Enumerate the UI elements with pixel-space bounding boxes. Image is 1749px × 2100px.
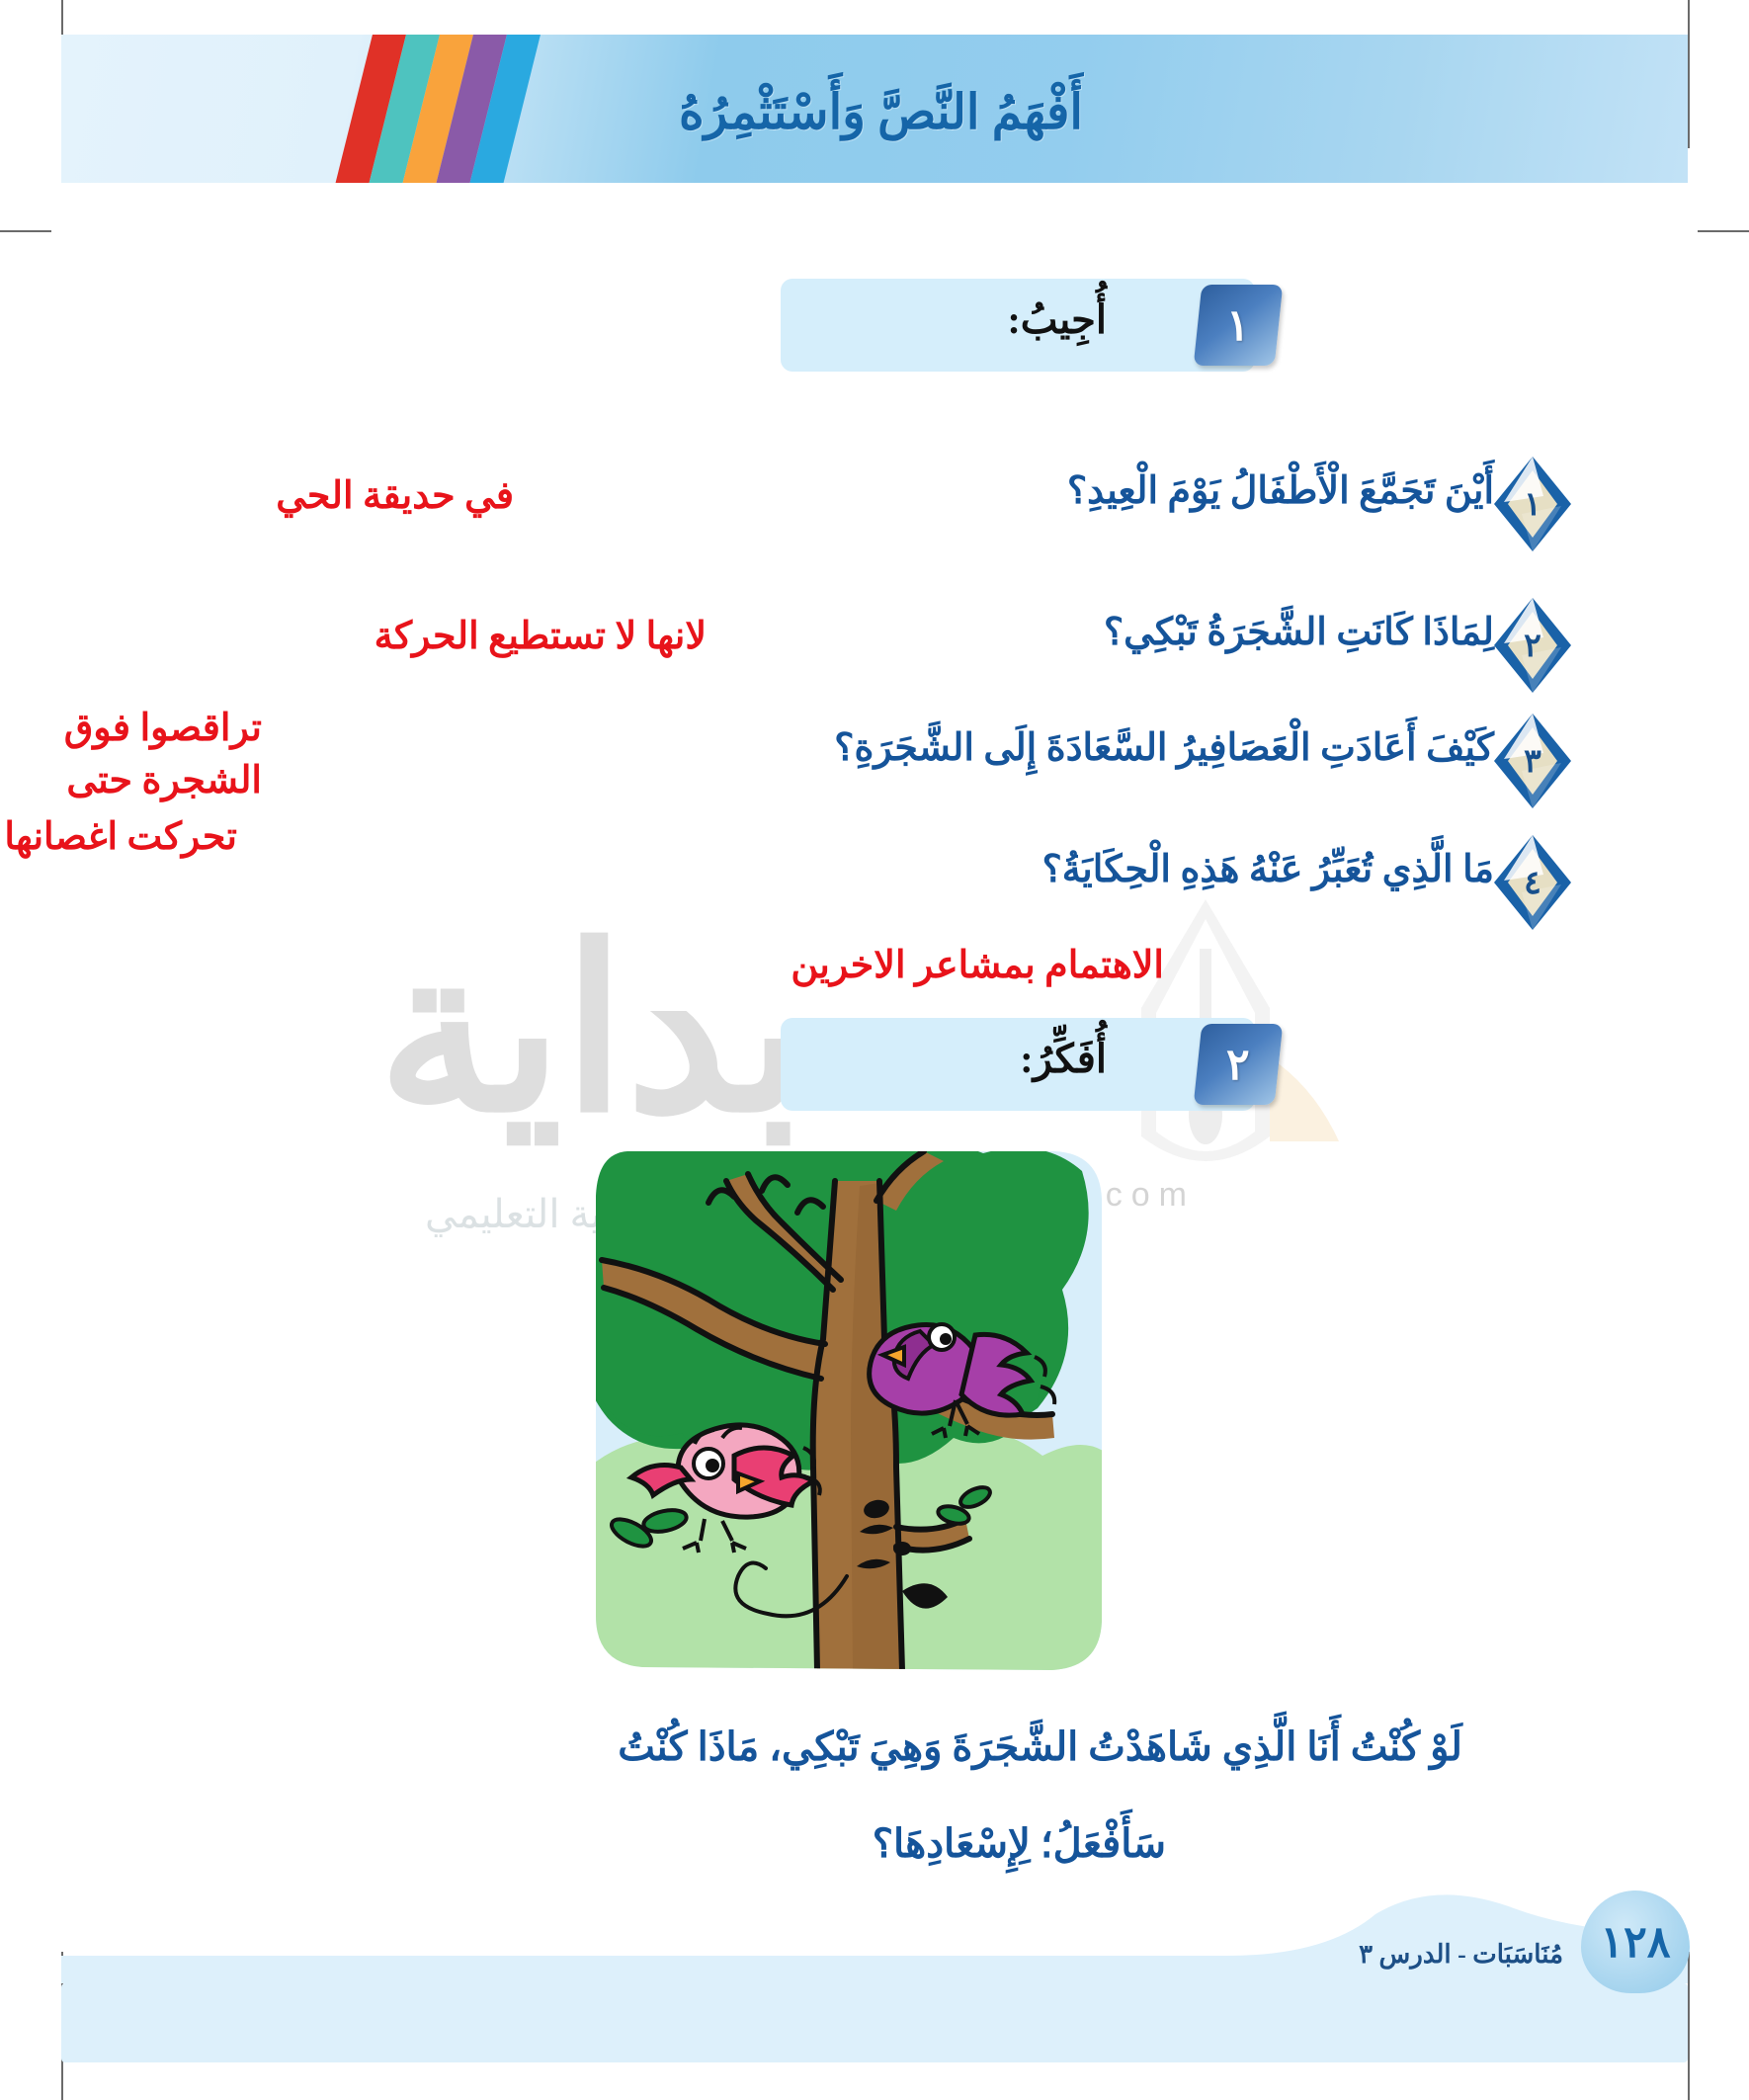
crop-mark-top-right	[1688, 0, 1690, 148]
section-label-answer: أُجِيبُ:	[1007, 296, 1107, 343]
crop-mark-right	[1698, 230, 1749, 232]
answer-text-3-line2: الشجرة حتى	[66, 759, 262, 803]
textbook-page: أَفْهَمُ النَّصَّ وَأَسْتَثْمِرُهُ بداية…	[0, 0, 1749, 2100]
think-prompt-line-1: لَوْ كُنْتُ أَنَا الَّذِي شَاهَدْتُ الشَ…	[618, 1720, 1462, 1775]
footer-band	[61, 1983, 1688, 2062]
section-badge-1-number: ١	[1226, 300, 1250, 351]
question-text-2: لِمَاذَا كَانَتِ الشَّجَرَةُ تَبْكِي؟	[1104, 598, 1494, 657]
question-bullet-4: ٤	[1494, 835, 1571, 930]
think-prompt-line-2: سَأَفْعَلُ؛ لِإِسْعَادِهَا؟	[873, 1816, 1166, 1872]
question-bullet-2: ٢	[1494, 598, 1571, 693]
section-badge-2: ٢	[1194, 1024, 1284, 1105]
footer-wave-decoration	[61, 1894, 1688, 1983]
crop-mark-bottom-right	[1688, 1952, 1690, 2100]
footer-lesson-label: مُنَاسَبَات - الدرس ٣	[1359, 1940, 1563, 1970]
question-text-3: كَيْفَ أَعَادَتِ الْعَصَافِيرُ السَّعَاد…	[834, 714, 1494, 773]
question-number-1: ١	[1494, 457, 1571, 551]
section-label-think: أُفَكِّرُ:	[1020, 1036, 1107, 1082]
illustration-sad-tree	[588, 1141, 1112, 1680]
section-strip-think: أُفَكِّرُ: ٢	[781, 1018, 1255, 1111]
answer-text-4: الاهتمام بمشاعر الاخرين	[791, 944, 1164, 988]
question-number-2: ٢	[1494, 598, 1571, 693]
section-strip-answer: أُجِيبُ: ١	[781, 279, 1255, 372]
section-badge-2-number: ٢	[1226, 1040, 1250, 1090]
question-row-1: ١ أَيْنَ تَجَمَّعَ الْأَطْفَالُ يَوْمَ ا…	[1067, 457, 1571, 551]
answer-text-1: في حديقة الحي	[276, 474, 514, 519]
page-header: أَفْهَمُ النَّصَّ وَأَسْتَثْمِرُهُ	[61, 35, 1688, 183]
answer-text-2: لانها لا تستطيع الحركة	[375, 615, 707, 659]
question-number-4: ٤	[1494, 835, 1571, 930]
question-text-4: مَا الَّذِي تُعَبِّرُ عَنْهُ هَذِهِ الْح…	[1042, 835, 1494, 894]
crop-mark-left	[0, 230, 51, 232]
section-badge-1: ١	[1194, 285, 1284, 366]
page-number: ١٢٨	[1581, 1890, 1690, 1993]
question-bullet-1: ١	[1494, 457, 1571, 551]
page-title: أَفْهَمُ النَّصَّ وَأَسْتَثْمِرُهُ	[679, 84, 1083, 140]
question-bullet-3: ٣	[1494, 714, 1571, 808]
question-row-2: ٢ لِمَاذَا كَانَتِ الشَّجَرَةُ تَبْكِي؟	[1104, 598, 1571, 693]
question-text-1: أَيْنَ تَجَمَّعَ الْأَطْفَالُ يَوْمَ الْ…	[1067, 457, 1494, 516]
answer-text-3-line1: تراقصوا فوق	[64, 707, 262, 751]
question-row-3: ٣ كَيْفَ أَعَادَتِ الْعَصَافِيرُ السَّعَ…	[834, 714, 1571, 808]
answer-text-3-line3: تحركت اغصانها	[4, 815, 237, 860]
question-row-4: ٤ مَا الَّذِي تُعَبِّرُ عَنْهُ هَذِهِ ال…	[1042, 835, 1571, 930]
rainbow-stripes-decoration	[61, 35, 476, 183]
question-number-3: ٣	[1494, 714, 1571, 808]
